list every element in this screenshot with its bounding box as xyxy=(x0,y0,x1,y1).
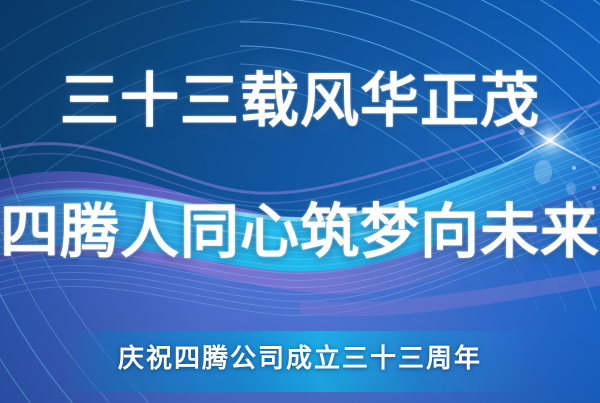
headline-line-1: 三十三载风华正茂 xyxy=(0,72,600,131)
headline-block: 三十三载风华正茂 四腾人同心筑梦向未来 庆祝四腾公司成立三十三周年 xyxy=(0,0,600,403)
subtitle-text: 庆祝四腾公司成立三十三周年 xyxy=(0,342,600,376)
headline-line-2: 四腾人同心筑梦向未来 xyxy=(0,203,600,262)
anniversary-banner: 三十三载风华正茂 四腾人同心筑梦向未来 庆祝四腾公司成立三十三周年 xyxy=(0,0,600,403)
